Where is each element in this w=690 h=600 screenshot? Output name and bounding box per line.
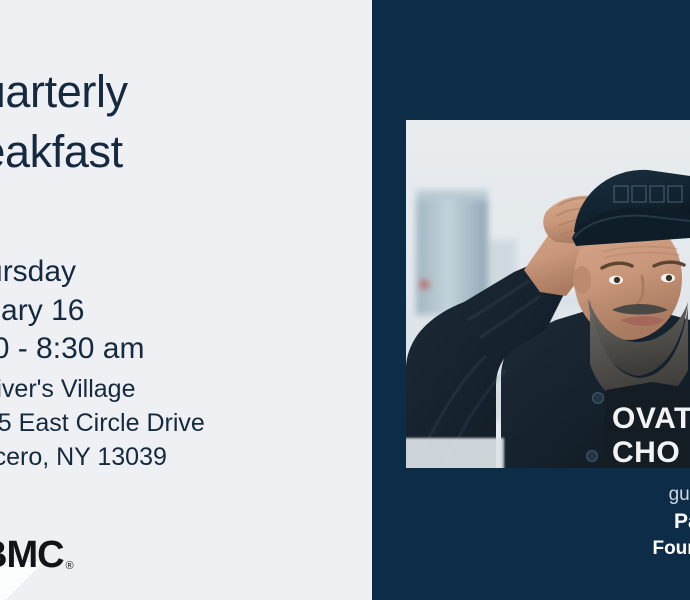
headline-line-2: s Breakfast [0, 122, 372, 182]
logo-wordmark: BMC [0, 536, 64, 574]
speaker-photo-image: OVAT CHO [406, 120, 690, 468]
event-date: anuary 16 [0, 292, 144, 331]
speaker-label: guest spe [433, 482, 690, 508]
venue-city-state-zip: Cicero, NY 13039 [0, 440, 205, 474]
event-venue-block: Driver's Village 885 East Circle Drive C… [0, 372, 205, 474]
venue-name: Driver's Village [0, 372, 205, 406]
venue-street: 885 East Circle Drive [0, 406, 205, 440]
page-title: C Quarterly s Breakfast [0, 62, 372, 182]
event-day: Thursday [0, 253, 144, 292]
registered-trademark-icon: ® [66, 561, 74, 572]
right-speaker-panel: OVAT CHO guest spe Paul Da Founder, A [372, 0, 690, 600]
event-time: 7:30 - 8:30 am [0, 330, 144, 369]
left-info-panel: C Quarterly s Breakfast Thursday anuary … [0, 0, 372, 600]
speaker-photo: OVAT CHO [406, 120, 690, 468]
svg-text:CHO: CHO [612, 436, 680, 468]
headline-line-1: C Quarterly [0, 62, 372, 122]
speaker-caption: guest spe Paul Da Founder, A [372, 482, 690, 562]
speaker-role: Founder, A [433, 536, 690, 562]
speaker-name: Paul Da [433, 508, 690, 536]
event-date-block: Thursday anuary 16 7:30 - 8:30 am [0, 253, 144, 369]
svg-text:OVAT: OVAT [612, 402, 690, 435]
event-flyer: C Quarterly s Breakfast Thursday anuary … [0, 0, 690, 600]
cbmc-logo: BMC ® [0, 536, 74, 574]
